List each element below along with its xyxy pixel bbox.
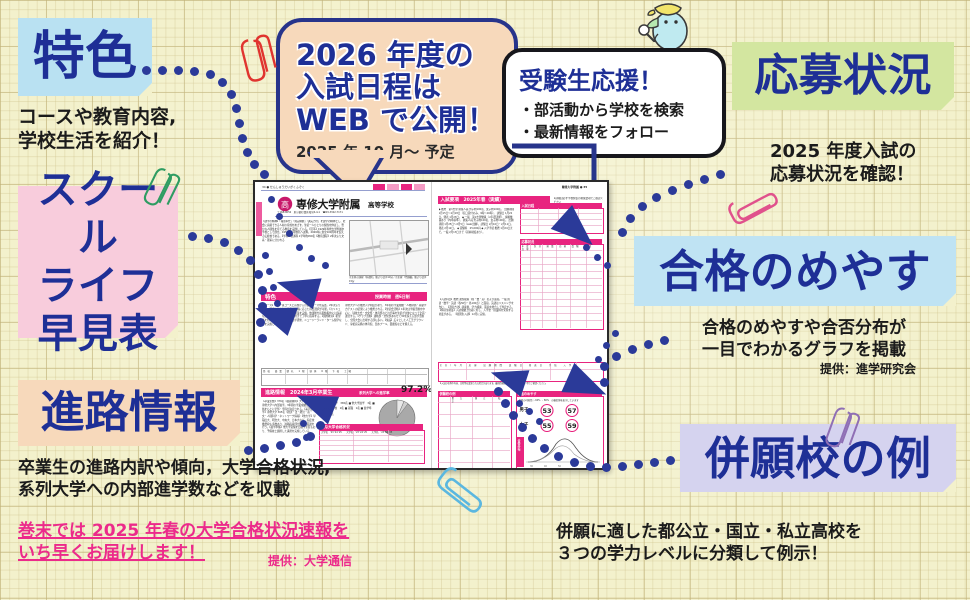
web-bubble-line3: WEB で公開！: [296, 104, 514, 136]
label-desc-oubo: 2025 年度入試の 応募状況を確認！: [770, 140, 916, 186]
label-title-oubo: 応募状況: [754, 54, 931, 98]
exam-body-1: ◆ 推薦 第1志望 募集人員 男子約100名、女子約100名。 出願期間 1月1…: [439, 208, 515, 294]
support-bubble-heading: 受験生応援！: [519, 68, 722, 96]
label-title-goukaku: 合格のめやす: [659, 249, 931, 294]
feature-body-right: 専修大学への推薦入学制度があり、3年間の学業成績・人物評価・基礎学力テストの結果…: [345, 304, 427, 366]
feature-bar-right-label: 授業時間 週6日制: [375, 294, 410, 300]
label-title-heigan: 併願校の例: [705, 436, 932, 481]
application-results-title: 応募状況: [522, 239, 535, 244]
svg-text:55: 55: [542, 422, 552, 430]
distribution-label: 合否分布: [517, 439, 521, 451]
label-chip-heigan[interactable]: 併願校の例: [680, 424, 956, 492]
application-schedule-title: 入試日程: [522, 203, 535, 208]
label-title-shinro: 進路情報: [40, 391, 217, 435]
svg-text:53: 53: [542, 407, 551, 415]
svg-text:40: 40: [544, 465, 547, 468]
label-chip-goukaku[interactable]: 合格のめやす: [634, 236, 956, 306]
web-bubble-line2: 入試日程は: [296, 71, 514, 103]
meyasu-row-0-values: 53 57: [536, 404, 598, 417]
school-name: 専修大学附属: [296, 196, 360, 212]
paperclip-green-icon: [142, 163, 182, 223]
exam-bar-label: 入試要項 2025年春（実績）: [441, 197, 504, 203]
heigan-table-title: 併願校の例: [440, 391, 456, 396]
access-map: [349, 220, 429, 276]
paperclip-blue-bottom-icon: [430, 466, 496, 526]
label-desc-heigan: 併願に適した都公立・国立・私立高校を ３つの学力レベルに分類して例示！: [556, 522, 862, 566]
school-emblem-icon: 高: [277, 196, 293, 212]
label-provider-goukaku: 提供：進学研究会: [820, 362, 916, 377]
svg-text:50: 50: [558, 465, 561, 468]
label-title-tokushoku: 特色: [33, 31, 138, 83]
meyasu-row-1-values: 55 59: [536, 419, 598, 432]
label-chip-oubo[interactable]: 応募状況: [732, 42, 954, 110]
label-desc-shinro: 卒業生の進路内訳や傾向，大学合格状況, 系列大学への内部進学数などを収載: [18, 458, 330, 502]
svg-text:57: 57: [567, 407, 576, 415]
support-bubble-item-0: ・部活動から学校を検索: [519, 99, 722, 122]
heigan-table-headers: 都立 国立 私立: [452, 397, 508, 404]
school-address: 〒168-0052 東京都杉並区和泉4-4-1 ☎03-3322-7171: [277, 211, 425, 215]
school-name-suffix: 高等学校: [368, 199, 394, 209]
label-chip-shinro[interactable]: 進路情報: [18, 380, 240, 446]
svg-text:59: 59: [567, 422, 577, 430]
career-stat-value: 97.2%: [401, 385, 432, 395]
svg-text:30: 30: [530, 465, 533, 468]
bird-detective-mascot-icon: [630, 0, 702, 52]
paperclip-pink-right-icon: [726, 180, 788, 226]
schedule-headers: 登校 始業 朝礼 1限 昼休 6限 下校 土曜: [263, 370, 423, 373]
paperclip-violet-icon: [820, 404, 866, 464]
web-bubble-line1: 2026 年度の: [296, 39, 514, 71]
label-desc-goukaku: 合格のめやすや合否分布が 一目でわかるグラフを掲載: [702, 318, 906, 362]
paperclip-red-top-icon: [238, 26, 282, 92]
career-stat-label: 系列大学への進学率: [359, 390, 390, 395]
svg-text:高: 高: [281, 200, 289, 210]
university-table-title: 主な大学合格状況: [321, 425, 350, 430]
university-table-headers: 大学名 '23 '24 '25 大学名 '23 '24 '25 大学名 '23 …: [321, 431, 421, 434]
exam-body-2: 【入試科目】推薦 適性検査（国・数・英）および面接。一般 国語・数学・英語（各5…: [439, 298, 515, 356]
label-provider-shinro: 提供：大学通信: [268, 554, 352, 569]
left-page-header-note: 34 ● せんしゅうだいがくふぞく: [262, 185, 372, 189]
right-page-folio: 専修大学附属 ● 35: [562, 185, 588, 189]
label-chip-tokushoku[interactable]: 特色: [18, 18, 152, 96]
label-desc-tokushoku: コースや教育内容, 学校生活を紹介！: [18, 105, 176, 154]
